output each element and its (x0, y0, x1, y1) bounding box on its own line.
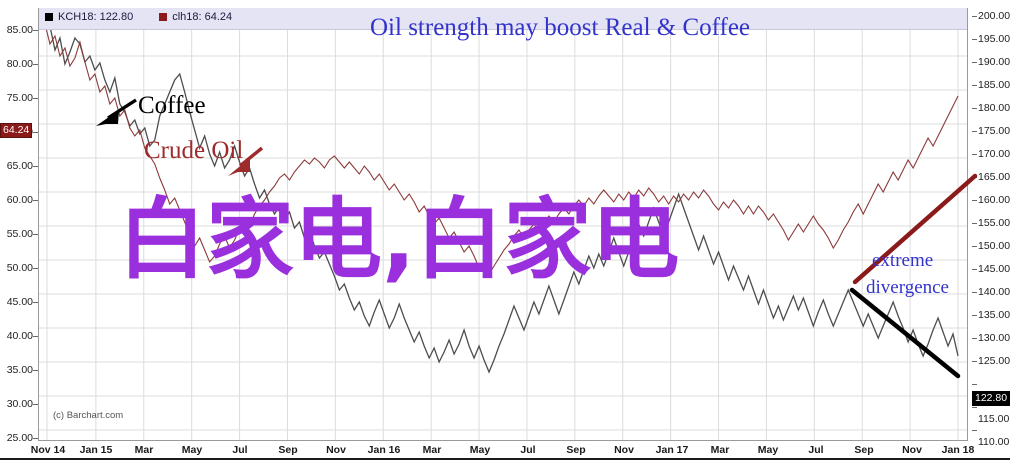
x-tick-label: Jul (232, 444, 247, 456)
annotation-extreme: extreme (872, 250, 933, 272)
right-tick-label: 140.00 (978, 287, 1010, 298)
left-tick-label: 55.00 (7, 229, 33, 240)
copyright-notice: (c) Barchart.com (53, 410, 123, 421)
right-tick-label: 175.00 (978, 126, 1010, 137)
x-tick-label: Nov (614, 444, 634, 456)
x-tick-label: Jul (520, 444, 535, 456)
right-tick-label: 130.00 (978, 333, 1010, 344)
watermark-text: 白家电,白家电 (118, 196, 679, 284)
right-tick-label: 170.00 (978, 149, 1010, 160)
x-tick-label: Nov 14 (31, 444, 65, 456)
x-tick-label: Sep (566, 444, 585, 456)
right-tick-label: 185.00 (978, 80, 1010, 91)
legend-entry-kch18: KCH18: 122.80 (45, 11, 133, 23)
legend-label-kch18: KCH18: 122.80 (58, 11, 133, 23)
left-tick-label: 45.00 (7, 297, 33, 308)
right-tick-label: 110.00 (978, 437, 1009, 448)
right-tick-label: 135.00 (978, 310, 1010, 321)
legend-swatch-icon (159, 13, 167, 21)
x-tick-label: Mar (135, 444, 154, 456)
right-tick-label: 125.00 (978, 356, 1010, 367)
right-tick-label: 190.00 (978, 57, 1010, 68)
left-tick-label: 25.00 (7, 433, 33, 444)
legend-entry-clh18: clh18: 64.24 (159, 11, 232, 23)
x-tick-label: Mar (423, 444, 442, 456)
left-tick-label: 35.00 (7, 365, 33, 376)
annotation-coffee: Coffee (138, 92, 206, 120)
chart-container: 85.00 80.00 75.00 70.00 65.00 60.00 55.0… (0, 0, 1010, 460)
x-tick-label: Jul (808, 444, 823, 456)
legend: KCH18: 122.80 clh18: 64.24 (45, 11, 232, 23)
left-tick-label: 85.00 (7, 25, 33, 36)
right-tick-label: 155.00 (978, 218, 1010, 229)
x-tick-label: May (758, 444, 778, 456)
x-tick-label: May (182, 444, 202, 456)
x-tick-label: Sep (278, 444, 297, 456)
x-tick-label: Jan 16 (368, 444, 401, 456)
right-last-price-badge: 122.80 (972, 391, 1010, 406)
left-tick-label: 40.00 (7, 331, 33, 342)
x-tick-label: Nov (902, 444, 922, 456)
left-tick-label: 75.00 (7, 93, 33, 104)
x-axis: Nov 14 Jan 15 Mar May Jul Sep Nov Jan 16… (38, 440, 968, 460)
x-tick-label: Jan 17 (656, 444, 689, 456)
annotation-divergence: divergence (866, 277, 949, 299)
left-tick-label: 30.00 (7, 399, 33, 410)
right-tick-label: 180.00 (978, 103, 1010, 114)
right-tick-label: 115.00 (978, 414, 1009, 425)
x-tick-label: Mar (711, 444, 730, 456)
x-tick-label: Nov (326, 444, 346, 456)
right-tick-label: 165.00 (978, 172, 1010, 183)
left-tick-label: 50.00 (7, 263, 33, 274)
left-tick-label: 80.00 (7, 59, 33, 70)
left-tick-label: 65.00 (7, 161, 33, 172)
right-tick-label: 160.00 (978, 195, 1010, 206)
right-tick-label: 145.00 (978, 264, 1010, 275)
left-tick-label: 60.00 (7, 195, 33, 206)
left-last-price-badge: 64.24 (0, 123, 32, 138)
right-tick-label: 150.00 (978, 241, 1010, 252)
legend-swatch-icon (45, 13, 53, 21)
right-tick-label: 195.00 (978, 34, 1010, 45)
annotation-crude-oil: Crude Oil (144, 137, 243, 165)
x-tick-label: Jan 18 (942, 444, 975, 456)
x-tick-label: May (470, 444, 490, 456)
legend-label-clh18: clh18: 64.24 (172, 11, 232, 23)
left-price-axis: 85.00 80.00 75.00 70.00 65.00 60.00 55.0… (0, 8, 38, 440)
chart-title: Oil strength may boost Real & Coffee (370, 14, 750, 42)
x-tick-label: Sep (854, 444, 873, 456)
right-price-axis: 200.00 195.00 190.00 185.00 180.00 175.0… (972, 8, 1010, 440)
x-tick-label: Jan 15 (80, 444, 113, 456)
right-tick-label: 200.00 (978, 11, 1010, 22)
